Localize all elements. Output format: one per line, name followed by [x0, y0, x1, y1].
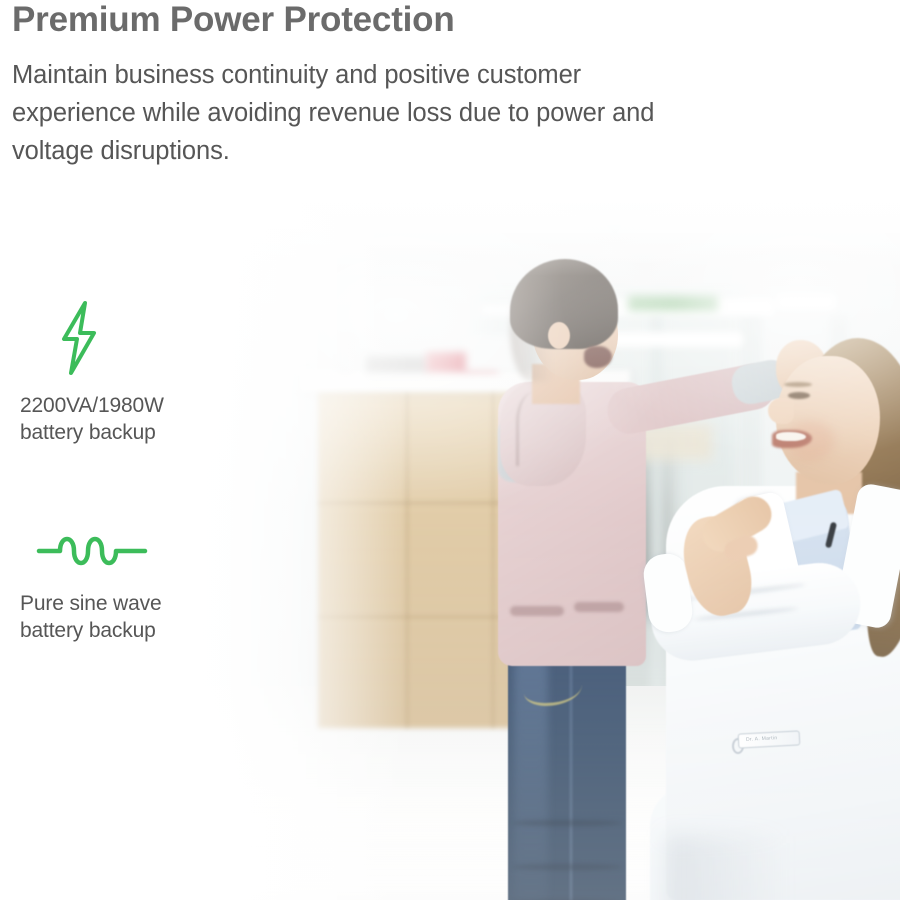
- header-copy-block: Premium Power Protection Maintain busine…: [12, 0, 712, 170]
- photo-scene: Dr. A. Martin: [180, 186, 900, 900]
- feature-list: 2200VA/1980W battery backup Pure sine wa…: [0, 296, 200, 722]
- feature-icon-wrap: [0, 524, 200, 578]
- feature-icon-wrap: [0, 296, 200, 380]
- feature-label-line-1: 2200VA/1980W: [20, 392, 190, 419]
- lightning-bolt-icon: [52, 299, 106, 377]
- doctor-eye: [788, 392, 810, 399]
- page-title: Premium Power Protection: [12, 0, 712, 40]
- feature-label-line-1: Pure sine wave: [20, 590, 190, 617]
- feature-label-line-2: battery backup: [20, 419, 190, 446]
- doctor-coat-shadow: [666, 836, 786, 900]
- doctor-eyebrow: [784, 382, 812, 387]
- hero-photo: Dr. A. Martin: [180, 186, 900, 900]
- feature-label-line-2: battery backup: [20, 617, 190, 644]
- doctor-figure: Dr. A. Martin: [180, 186, 900, 900]
- feature-label-battery-capacity: 2200VA/1980W battery backup: [0, 392, 190, 446]
- page-subtitle: Maintain business continuity and positiv…: [12, 56, 702, 170]
- doctor-teeth: [776, 432, 806, 441]
- feature-label-pure-sine-wave: Pure sine wave battery backup: [0, 590, 190, 644]
- sine-wave-icon: [36, 529, 148, 573]
- feature-item-pure-sine-wave: Pure sine wave battery backup: [0, 524, 200, 644]
- doctor-nose: [768, 398, 794, 424]
- product-feature-panel: Premium Power Protection Maintain busine…: [0, 0, 900, 900]
- feature-item-battery-capacity: 2200VA/1980W battery backup: [0, 296, 200, 446]
